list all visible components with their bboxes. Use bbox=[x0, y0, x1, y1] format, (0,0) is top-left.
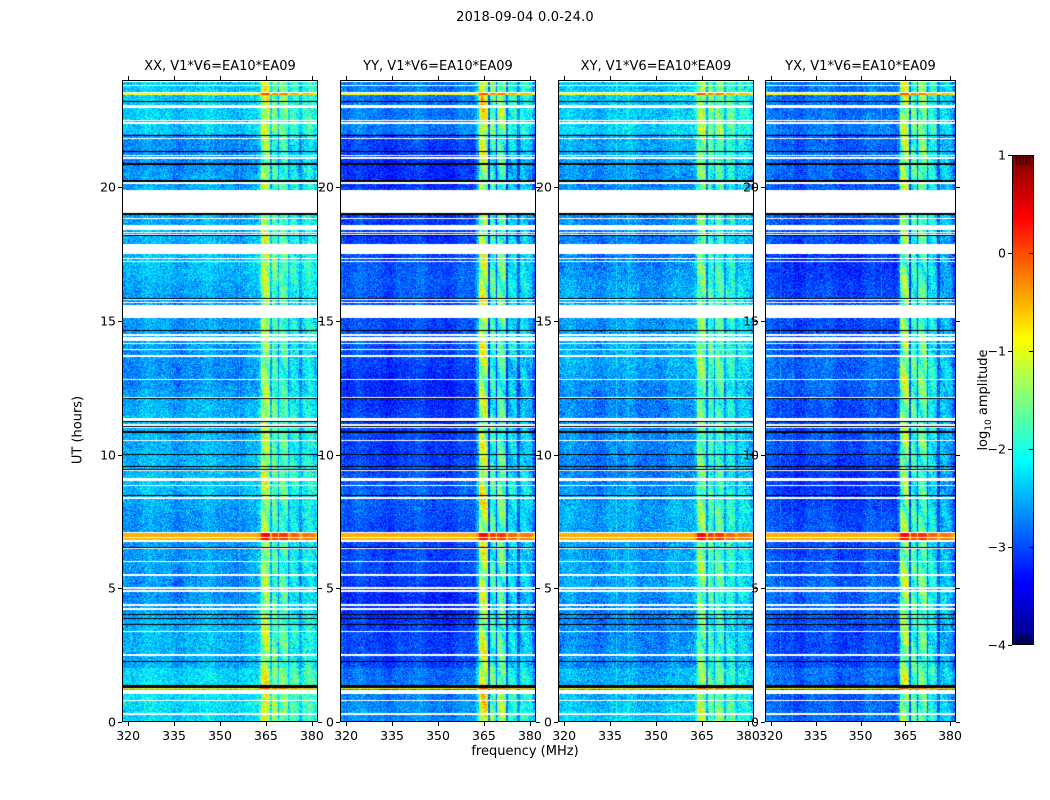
colorbar-label-suffix: amplitude bbox=[976, 349, 991, 419]
x-tick-mark-top bbox=[748, 76, 749, 80]
x-tick-label: 365 bbox=[472, 728, 496, 743]
y-tick-label: 20 bbox=[729, 180, 759, 195]
x-tick-mark bbox=[220, 722, 221, 726]
x-tick-label: 365 bbox=[893, 728, 917, 743]
x-tick-mark-top bbox=[771, 76, 772, 80]
x-tick-mark-top bbox=[346, 76, 347, 80]
x-axis-label: frequency (MHz) bbox=[0, 744, 1050, 759]
x-tick-mark-top bbox=[174, 76, 175, 80]
x-tick-mark bbox=[771, 722, 772, 726]
x-tick-label: 320 bbox=[116, 728, 140, 743]
y-tick-mark bbox=[118, 722, 122, 723]
x-tick-mark bbox=[656, 722, 657, 726]
colorbar-tick-mark bbox=[1008, 253, 1012, 254]
x-tick-mark bbox=[392, 722, 393, 726]
y-tick-mark bbox=[118, 588, 122, 589]
x-tick-mark-top bbox=[220, 76, 221, 80]
colorbar-tick-mark-inner bbox=[1029, 449, 1033, 450]
x-tick-label: 320 bbox=[759, 728, 783, 743]
waterfall-image bbox=[559, 81, 753, 721]
x-tick-mark bbox=[861, 722, 862, 726]
y-tick-mark bbox=[118, 455, 122, 456]
y-tick-mark-right bbox=[956, 187, 960, 188]
x-tick-mark bbox=[346, 722, 347, 726]
y-tick-mark bbox=[761, 722, 765, 723]
y-tick-label: 15 bbox=[304, 313, 334, 328]
waterfall-image bbox=[123, 81, 317, 721]
y-tick-label: 20 bbox=[522, 180, 552, 195]
y-tick-label: 5 bbox=[729, 581, 759, 596]
x-tick-label: 350 bbox=[208, 728, 232, 743]
colorbar bbox=[1012, 155, 1034, 645]
x-tick-mark-top bbox=[861, 76, 862, 80]
y-tick-label: 15 bbox=[522, 313, 552, 328]
waterfall-panel-xx bbox=[122, 80, 318, 722]
x-tick-mark bbox=[438, 722, 439, 726]
x-tick-mark bbox=[610, 722, 611, 726]
colorbar-label-sub: 10 bbox=[984, 419, 994, 430]
y-tick-label: 0 bbox=[522, 715, 552, 730]
y-tick-mark-right bbox=[956, 321, 960, 322]
x-tick-mark-top bbox=[392, 76, 393, 80]
x-tick-label: 365 bbox=[690, 728, 714, 743]
x-tick-label: 350 bbox=[849, 728, 873, 743]
colorbar-tick-label: −3 bbox=[978, 540, 1006, 555]
y-tick-mark bbox=[554, 187, 558, 188]
y-tick-label: 10 bbox=[86, 447, 116, 462]
colorbar-tick-mark bbox=[1008, 351, 1012, 352]
y-tick-label: 10 bbox=[522, 447, 552, 462]
y-tick-mark bbox=[336, 588, 340, 589]
y-tick-mark bbox=[336, 455, 340, 456]
waterfall-panel-yx bbox=[765, 80, 956, 722]
colorbar-tick-mark bbox=[1008, 645, 1012, 646]
x-tick-mark bbox=[702, 722, 703, 726]
panel-title-yy: YY, V1*V6=EA10*EA09 bbox=[340, 58, 536, 76]
x-tick-label: 335 bbox=[598, 728, 622, 743]
colorbar-tick-label: 1 bbox=[978, 148, 1006, 163]
x-tick-mark-top bbox=[610, 76, 611, 80]
y-tick-mark bbox=[761, 187, 765, 188]
x-tick-mark-top bbox=[950, 76, 951, 80]
x-tick-mark bbox=[564, 722, 565, 726]
y-tick-mark bbox=[761, 321, 765, 322]
y-tick-mark-right bbox=[956, 722, 960, 723]
x-tick-mark bbox=[174, 722, 175, 726]
y-tick-mark bbox=[554, 321, 558, 322]
y-tick-mark bbox=[336, 722, 340, 723]
y-tick-mark bbox=[336, 321, 340, 322]
waterfall-image bbox=[341, 81, 535, 721]
x-tick-label: 335 bbox=[162, 728, 186, 743]
waterfall-panel-xy bbox=[558, 80, 754, 722]
waterfall-image bbox=[766, 81, 955, 721]
x-tick-label: 380 bbox=[300, 728, 324, 743]
x-tick-mark-top bbox=[312, 76, 313, 80]
y-axis-label: UT (hours) bbox=[71, 396, 86, 464]
colorbar-gradient bbox=[1013, 156, 1033, 644]
panel-title-xx: XX, V1*V6=EA10*EA09 bbox=[122, 58, 318, 76]
colorbar-tick-mark-inner bbox=[1029, 253, 1033, 254]
colorbar-tick-label: 0 bbox=[978, 246, 1006, 261]
y-tick-label: 10 bbox=[729, 447, 759, 462]
panel-title-yx: YX, V1*V6=EA10*EA09 bbox=[765, 58, 956, 76]
x-tick-mark-top bbox=[530, 76, 531, 80]
y-tick-mark bbox=[554, 588, 558, 589]
figure-canvas: 2018-09-04 0.0-24.0 XX, V1*V6=EA10*EA09 … bbox=[0, 0, 1050, 800]
x-tick-label: 350 bbox=[644, 728, 668, 743]
y-tick-mark bbox=[554, 722, 558, 723]
x-tick-label: 350 bbox=[426, 728, 450, 743]
y-tick-label: 0 bbox=[86, 715, 116, 730]
x-tick-mark-top bbox=[702, 76, 703, 80]
y-tick-mark bbox=[761, 455, 765, 456]
y-tick-label: 5 bbox=[304, 581, 334, 596]
y-tick-label: 10 bbox=[304, 447, 334, 462]
y-tick-label: 0 bbox=[729, 715, 759, 730]
x-tick-label: 380 bbox=[938, 728, 962, 743]
x-tick-mark bbox=[128, 722, 129, 726]
x-tick-mark-top bbox=[905, 76, 906, 80]
colorbar-tick-mark bbox=[1008, 449, 1012, 450]
x-tick-mark-top bbox=[484, 76, 485, 80]
x-tick-mark-top bbox=[656, 76, 657, 80]
y-tick-mark-right bbox=[956, 588, 960, 589]
x-tick-label: 380 bbox=[518, 728, 542, 743]
x-tick-label: 380 bbox=[736, 728, 760, 743]
x-tick-mark bbox=[816, 722, 817, 726]
x-tick-mark-top bbox=[816, 76, 817, 80]
x-tick-mark-top bbox=[128, 76, 129, 80]
y-tick-mark bbox=[336, 187, 340, 188]
x-tick-label: 320 bbox=[552, 728, 576, 743]
x-tick-mark bbox=[950, 722, 951, 726]
x-tick-mark-top bbox=[564, 76, 565, 80]
y-tick-label: 5 bbox=[86, 581, 116, 596]
y-tick-mark bbox=[118, 321, 122, 322]
colorbar-tick-label: −4 bbox=[978, 638, 1006, 653]
waterfall-panel-yy bbox=[340, 80, 536, 722]
y-tick-label: 20 bbox=[304, 180, 334, 195]
x-tick-mark bbox=[905, 722, 906, 726]
x-tick-label: 335 bbox=[380, 728, 404, 743]
colorbar-label: log10 amplitude bbox=[976, 349, 994, 450]
colorbar-tick-mark bbox=[1008, 155, 1012, 156]
colorbar-tick-mark-inner bbox=[1029, 547, 1033, 548]
x-tick-mark bbox=[266, 722, 267, 726]
colorbar-tick-label: −1 bbox=[978, 344, 1006, 359]
y-tick-label: 0 bbox=[304, 715, 334, 730]
x-tick-mark-top bbox=[266, 76, 267, 80]
x-tick-label: 365 bbox=[254, 728, 278, 743]
y-tick-label: 5 bbox=[522, 581, 552, 596]
x-tick-mark-top bbox=[438, 76, 439, 80]
x-tick-label: 335 bbox=[804, 728, 828, 743]
y-tick-mark bbox=[118, 187, 122, 188]
panel-title-xy: XY, V1*V6=EA10*EA09 bbox=[558, 58, 754, 76]
colorbar-tick-label: −2 bbox=[978, 442, 1006, 457]
x-tick-label: 320 bbox=[334, 728, 358, 743]
colorbar-tick-mark-inner bbox=[1029, 351, 1033, 352]
y-tick-mark bbox=[761, 588, 765, 589]
y-tick-mark bbox=[554, 455, 558, 456]
y-tick-label: 20 bbox=[86, 180, 116, 195]
y-tick-label: 15 bbox=[86, 313, 116, 328]
figure-suptitle: 2018-09-04 0.0-24.0 bbox=[0, 10, 1050, 25]
x-tick-mark bbox=[484, 722, 485, 726]
y-tick-label: 15 bbox=[729, 313, 759, 328]
colorbar-tick-mark bbox=[1008, 547, 1012, 548]
y-tick-mark-right bbox=[956, 455, 960, 456]
